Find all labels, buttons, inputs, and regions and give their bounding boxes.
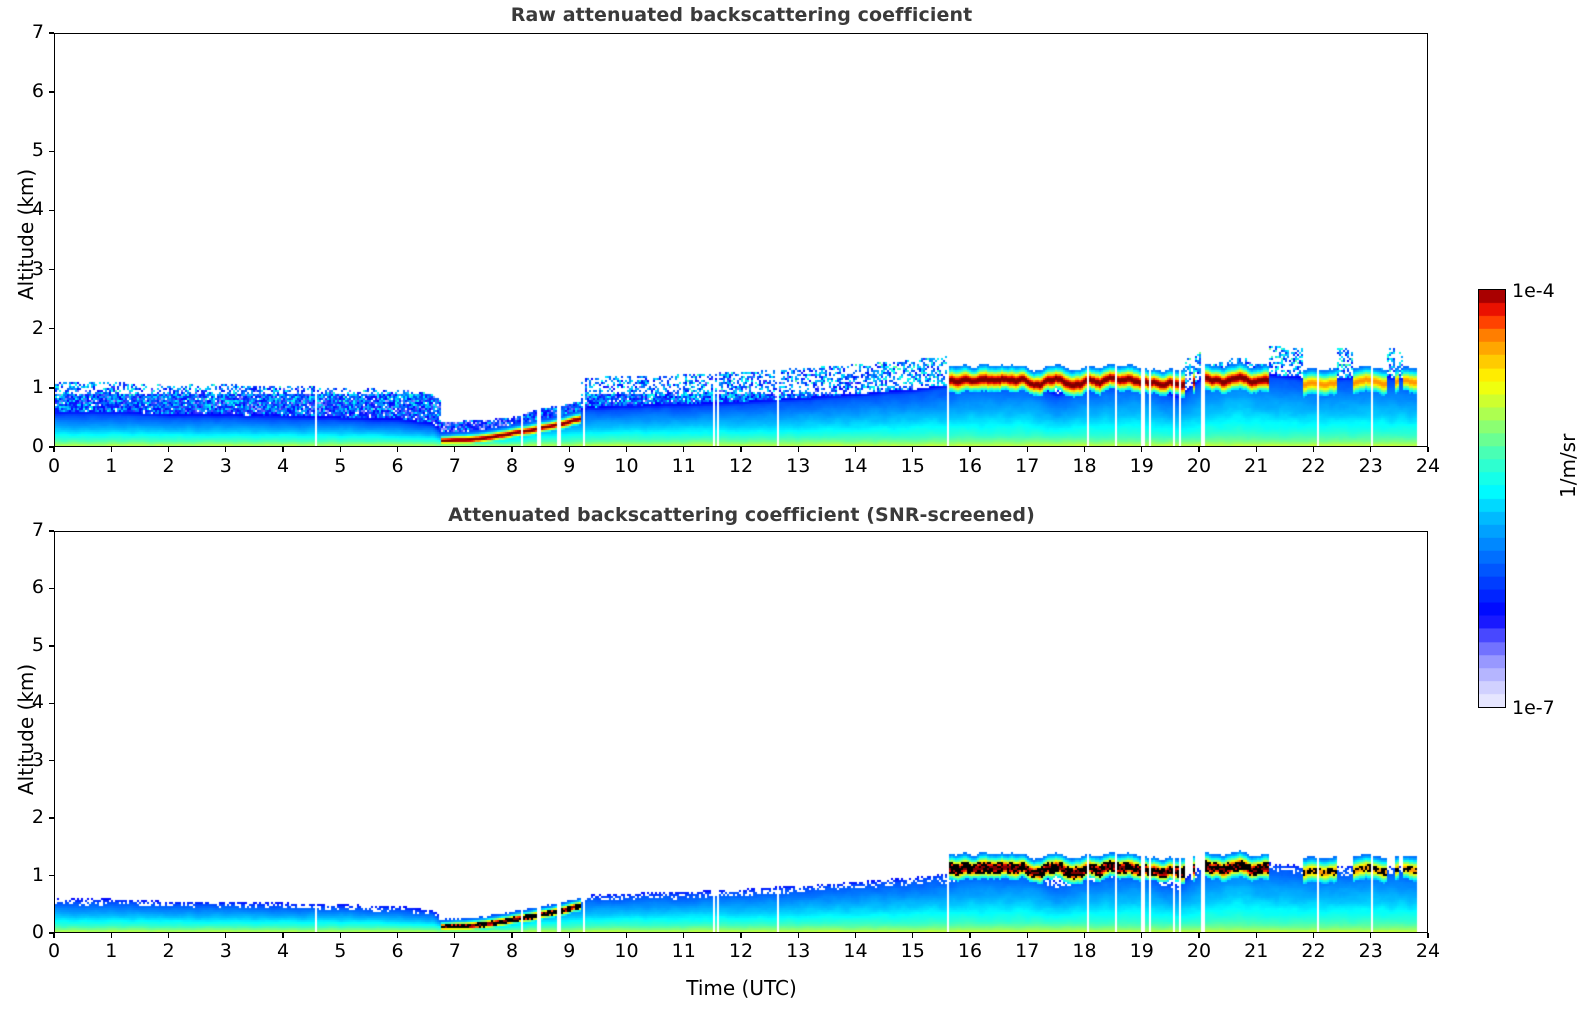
x-tick-label: 14 (836, 940, 876, 962)
y-tick (49, 760, 54, 761)
x-tick-label: 24 (1408, 455, 1448, 477)
x-tick (1256, 447, 1257, 452)
x-tick-label: 9 (549, 940, 589, 962)
plot-area-raw (54, 33, 1428, 447)
y-tick-label: 2 (6, 317, 44, 339)
x-tick (1256, 933, 1257, 938)
x-tick-label: 17 (1007, 940, 1047, 962)
x-tick (454, 933, 455, 938)
x-tick (53, 447, 54, 452)
x-tick-label: 1 (91, 940, 131, 962)
x-tick-label: 3 (206, 455, 246, 477)
y-tick-label: 2 (6, 806, 44, 828)
x-tick (855, 447, 856, 452)
x-tick (168, 933, 169, 938)
x-tick (225, 933, 226, 938)
x-tick (282, 933, 283, 938)
x-tick (1198, 447, 1199, 452)
y-tick-label: 1 (6, 864, 44, 886)
x-tick (569, 447, 570, 452)
x-tick (340, 447, 341, 452)
x-tick (798, 933, 799, 938)
y-tick (49, 588, 54, 589)
x-tick-label: 6 (378, 940, 418, 962)
x-tick (1313, 933, 1314, 938)
x-tick (511, 447, 512, 452)
x-tick (626, 933, 627, 938)
x-tick-label: 0 (34, 455, 74, 477)
heatmap-canvas-raw (55, 34, 1428, 447)
x-tick-label: 4 (263, 940, 303, 962)
x-tick-label: 1 (91, 455, 131, 477)
x-tick (111, 933, 112, 938)
x-tick (969, 933, 970, 938)
x-tick-label: 12 (721, 940, 761, 962)
x-tick-label: 19 (1122, 455, 1162, 477)
x-tick-label: 9 (549, 455, 589, 477)
y-tick-label: 5 (6, 139, 44, 161)
x-tick-label: 22 (1294, 940, 1334, 962)
x-tick-label: 21 (1236, 940, 1276, 962)
x-tick-label: 18 (1065, 455, 1105, 477)
x-tick (912, 447, 913, 452)
y-tick-label: 4 (6, 691, 44, 713)
x-tick (282, 447, 283, 452)
y-tick-label: 3 (6, 258, 44, 280)
y-tick (49, 210, 54, 211)
x-tick (1141, 447, 1142, 452)
y-tick (49, 32, 54, 33)
y-tick-label: 3 (6, 749, 44, 771)
panel-title-raw: Raw attenuated backscattering coefficien… (0, 4, 1483, 26)
x-tick-label: 14 (836, 455, 876, 477)
x-tick (53, 933, 54, 938)
y-tick-label: 7 (6, 21, 44, 43)
colorbar-unit-label: 1/m/sr (1556, 434, 1580, 498)
y-tick-label: 7 (6, 519, 44, 541)
y-tick (49, 875, 54, 876)
y-tick-label: 6 (6, 576, 44, 598)
x-tick (1084, 933, 1085, 938)
x-tick (1198, 933, 1199, 938)
x-tick-label: 11 (664, 455, 704, 477)
lidar-backscatter-figure: Raw attenuated backscattering coefficien… (0, 0, 1595, 1020)
heatmap-canvas-screened (55, 532, 1428, 933)
y-tick (49, 645, 54, 646)
colorbar-gradient (1478, 289, 1506, 708)
x-tick-label: 17 (1007, 455, 1047, 477)
x-tick (1370, 933, 1371, 938)
x-tick-label: 10 (607, 940, 647, 962)
x-tick-label: 22 (1294, 455, 1334, 477)
x-tick (798, 447, 799, 452)
x-tick-label: 3 (206, 940, 246, 962)
x-tick (397, 933, 398, 938)
x-tick-label: 21 (1236, 455, 1276, 477)
x-tick-label: 16 (950, 455, 990, 477)
x-tick-label: 5 (320, 455, 360, 477)
y-tick-label: 6 (6, 80, 44, 102)
y-tick-label: 1 (6, 376, 44, 398)
x-tick-label: 5 (320, 940, 360, 962)
x-tick (1370, 447, 1371, 452)
x-tick-label: 7 (435, 455, 475, 477)
x-tick (1427, 447, 1428, 452)
x-tick (1313, 447, 1314, 452)
panel-title-screened: Attenuated backscattering coefficient (S… (0, 504, 1483, 526)
y-axis-label-raw: Altitude (km) (14, 169, 38, 300)
x-tick (1027, 933, 1028, 938)
x-tick (225, 447, 226, 452)
x-tick-label: 7 (435, 940, 475, 962)
x-tick-label: 2 (149, 940, 189, 962)
x-tick-label: 8 (492, 455, 532, 477)
x-tick (340, 933, 341, 938)
x-tick-label: 19 (1122, 940, 1162, 962)
x-tick (626, 447, 627, 452)
x-tick (969, 447, 970, 452)
x-tick (1084, 447, 1085, 452)
y-tick (49, 91, 54, 92)
y-tick (49, 269, 54, 270)
x-tick-label: 8 (492, 940, 532, 962)
y-tick (49, 151, 54, 152)
x-tick-label: 15 (893, 455, 933, 477)
y-tick-label: 4 (6, 198, 44, 220)
x-tick (683, 933, 684, 938)
x-tick (569, 933, 570, 938)
x-tick (1141, 933, 1142, 938)
colorbar (1478, 289, 1506, 708)
x-axis-label: Time (UTC) (0, 976, 1483, 1000)
y-tick (49, 328, 54, 329)
x-tick (511, 933, 512, 938)
x-tick-label: 0 (34, 940, 74, 962)
x-tick-label: 20 (1179, 455, 1219, 477)
x-tick (1027, 447, 1028, 452)
y-axis-label-screened: Altitude (km) (14, 664, 38, 795)
colorbar-min-label: 1e-7 (1512, 697, 1555, 719)
y-tick (49, 817, 54, 818)
x-tick (912, 933, 913, 938)
x-tick-label: 4 (263, 455, 303, 477)
x-tick-label: 6 (378, 455, 418, 477)
plot-area-screened (54, 531, 1428, 933)
y-tick-label: 5 (6, 634, 44, 656)
x-tick (397, 447, 398, 452)
x-tick-label: 10 (607, 455, 647, 477)
x-tick-label: 16 (950, 940, 990, 962)
x-tick (111, 447, 112, 452)
x-tick-label: 18 (1065, 940, 1105, 962)
x-tick-label: 23 (1351, 455, 1391, 477)
x-tick (740, 447, 741, 452)
x-tick-label: 23 (1351, 940, 1391, 962)
x-tick (740, 933, 741, 938)
x-tick-label: 15 (893, 940, 933, 962)
x-tick-label: 12 (721, 455, 761, 477)
x-tick (1427, 933, 1428, 938)
x-tick-label: 13 (778, 940, 818, 962)
x-tick (168, 447, 169, 452)
x-tick-label: 11 (664, 940, 704, 962)
y-tick (49, 703, 54, 704)
x-tick-label: 20 (1179, 940, 1219, 962)
colorbar-max-label: 1e-4 (1512, 280, 1555, 302)
x-tick-label: 24 (1408, 940, 1448, 962)
x-tick-label: 2 (149, 455, 189, 477)
x-tick (683, 447, 684, 452)
x-tick (454, 447, 455, 452)
y-tick (49, 530, 54, 531)
x-tick (855, 933, 856, 938)
y-tick-label: 0 (6, 435, 44, 457)
x-tick-label: 13 (778, 455, 818, 477)
y-tick (49, 387, 54, 388)
